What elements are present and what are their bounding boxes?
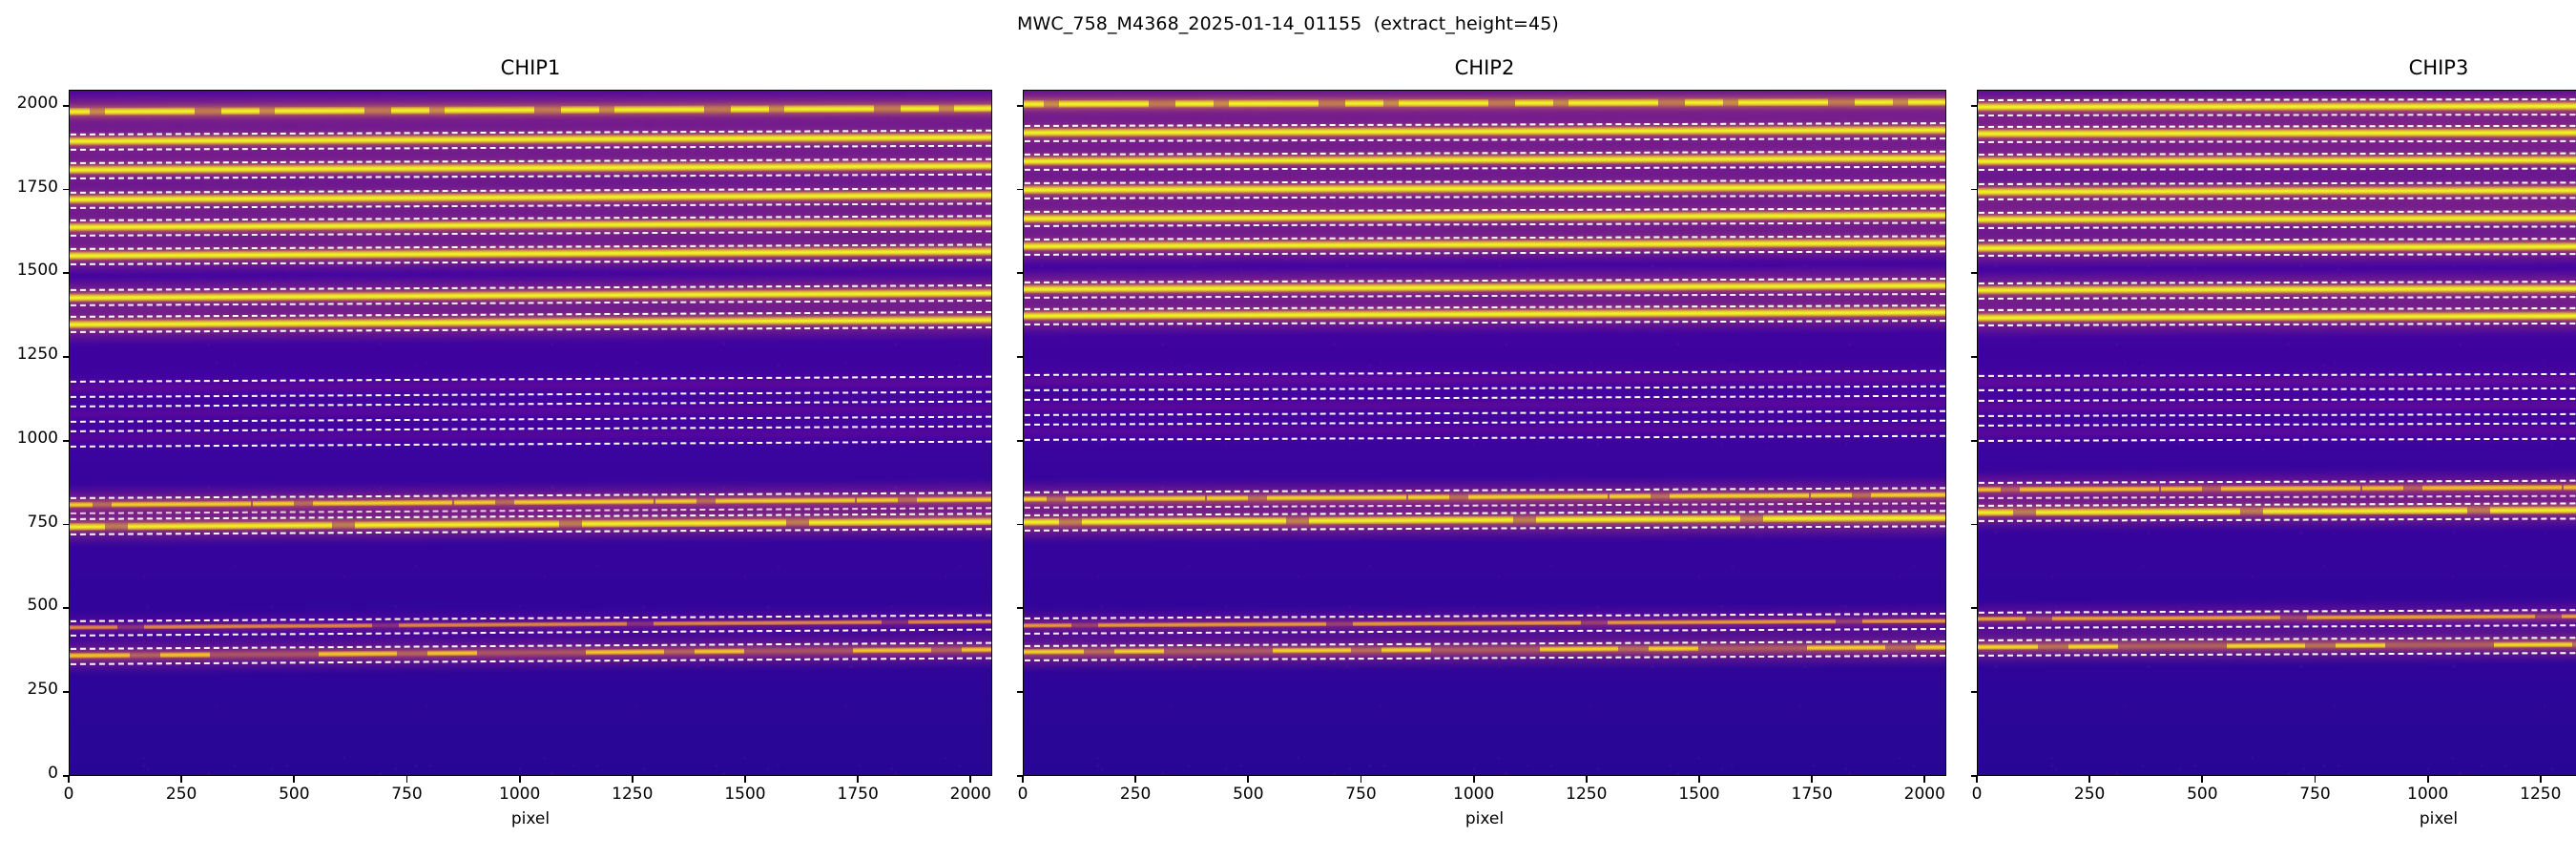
x-tick-label: 1500 — [1678, 785, 1719, 804]
x-tick-mark — [1247, 776, 1249, 783]
y-tick-mark — [63, 440, 70, 442]
x-tick-label: 750 — [391, 785, 422, 804]
x-tick-label: 1250 — [612, 785, 653, 804]
spectral-order-halo — [1977, 413, 2576, 449]
x-tick-label: 0 — [1972, 785, 1983, 804]
y-tick-mark — [63, 524, 70, 526]
x-tick-mark — [1022, 776, 1024, 783]
y-tick-label: 1250 — [17, 345, 58, 364]
x-tick-label: 1250 — [2520, 785, 2561, 804]
x-tick-label: 750 — [2299, 785, 2330, 804]
x-tick-label: 1500 — [724, 785, 765, 804]
x-tick-mark — [1361, 776, 1362, 783]
x-tick-label: 750 — [1345, 785, 1376, 804]
x-tick-label: 250 — [166, 785, 197, 804]
y-tick-mark — [1971, 440, 1978, 442]
y-tick-mark — [63, 356, 70, 358]
spectral-order-halo — [69, 417, 992, 453]
y-tick-mark — [1971, 524, 1978, 526]
y-tick-label: 500 — [28, 596, 58, 615]
spectral-order-trace — [1977, 156, 2576, 165]
panel-title: CHIP1 — [69, 56, 992, 79]
figure-suptitle: MWC_758_M4368_2025-01-14_01155 (extract_… — [0, 13, 2576, 34]
y-tick-mark — [1971, 272, 1978, 274]
y-tick-mark — [1017, 524, 1024, 526]
panel-title: CHIP2 — [1023, 56, 1946, 79]
y-tick-label: 1750 — [17, 178, 58, 197]
x-tick-label: 500 — [1233, 785, 1263, 804]
detector-image — [1023, 90, 1946, 776]
x-tick-mark — [1976, 776, 1978, 783]
y-tick-mark — [1971, 189, 1978, 191]
x-tick-mark — [632, 776, 634, 783]
spectral-order-trace — [1977, 214, 2576, 223]
x-tick-label: 1000 — [499, 785, 540, 804]
panel-chip2: CHIP2025050075010001250150017502000pixel — [1023, 90, 1946, 776]
y-tick-mark — [1017, 189, 1024, 191]
x-axis-label: pixel — [1023, 809, 1946, 828]
x-tick-mark — [293, 776, 295, 783]
y-tick-label: 2000 — [17, 94, 58, 113]
x-tick-mark — [1923, 776, 1925, 783]
x-tick-label: 1000 — [2407, 785, 2448, 804]
y-tick-mark — [1971, 105, 1978, 107]
panel-chip3: CHIP3025050075010001250150017502000pixel — [1977, 90, 2576, 776]
x-tick-mark — [744, 776, 746, 783]
y-tick-mark — [1971, 356, 1978, 358]
x-tick-label: 1750 — [838, 785, 879, 804]
y-tick-mark — [1017, 440, 1024, 442]
x-tick-label: 1750 — [1792, 785, 1833, 804]
y-tick-label: 750 — [28, 513, 58, 532]
spectral-order-trace — [1977, 102, 2576, 111]
y-tick-mark — [1017, 272, 1024, 274]
y-tick-mark — [1017, 691, 1024, 693]
y-tick-mark — [63, 105, 70, 107]
y-tick-mark — [63, 691, 70, 693]
x-tick-mark — [1811, 776, 1813, 783]
x-tick-mark — [969, 776, 971, 783]
panel-title: CHIP3 — [1977, 56, 2576, 79]
x-tick-mark — [1698, 776, 1700, 783]
y-tick-mark — [1017, 356, 1024, 358]
y-tick-mark — [63, 272, 70, 274]
x-tick-label: 500 — [2187, 785, 2217, 804]
x-tick-mark — [1586, 776, 1588, 783]
x-axis-label: pixel — [1977, 809, 2576, 828]
figure-canvas: MWC_758_M4368_2025-01-14_01155 (extract_… — [0, 0, 2576, 859]
y-tick-mark — [1017, 105, 1024, 107]
detector-image — [69, 90, 992, 776]
x-tick-mark — [2315, 776, 2316, 783]
x-tick-label: 1000 — [1453, 785, 1494, 804]
spectral-order-trace — [1977, 128, 2576, 136]
y-tick-mark — [63, 189, 70, 191]
y-tick-label: 1500 — [17, 261, 58, 280]
x-tick-label: 1250 — [1566, 785, 1607, 804]
y-tick-mark — [1017, 607, 1024, 609]
x-tick-mark — [68, 776, 70, 783]
x-axis-label: pixel — [69, 809, 992, 828]
x-tick-mark — [2540, 776, 2542, 783]
x-tick-label: 0 — [64, 785, 74, 804]
x-tick-mark — [2088, 776, 2090, 783]
x-tick-label: 0 — [1018, 785, 1028, 804]
x-tick-mark — [519, 776, 521, 783]
x-tick-mark — [1473, 776, 1475, 783]
x-tick-mark — [180, 776, 182, 783]
y-tick-mark — [63, 607, 70, 609]
x-tick-mark — [1134, 776, 1136, 783]
y-tick-label: 1000 — [17, 429, 58, 448]
y-tick-label: 0 — [48, 764, 58, 783]
x-tick-label: 2000 — [1904, 785, 1945, 804]
x-tick-label: 250 — [2074, 785, 2105, 804]
spectral-order-halo — [1023, 412, 1946, 448]
panel-chip1: CHIP102505007501000125015001750200002505… — [69, 90, 992, 776]
x-tick-label: 250 — [1120, 785, 1151, 804]
x-tick-label: 500 — [279, 785, 309, 804]
y-tick-mark — [1971, 607, 1978, 609]
x-tick-mark — [2201, 776, 2203, 783]
detector-image — [1977, 90, 2576, 776]
x-tick-mark — [2427, 776, 2429, 783]
y-tick-mark — [1971, 691, 1978, 693]
y-tick-label: 250 — [28, 680, 58, 699]
x-tick-mark — [857, 776, 859, 783]
x-tick-mark — [406, 776, 408, 783]
x-tick-label: 2000 — [950, 785, 991, 804]
